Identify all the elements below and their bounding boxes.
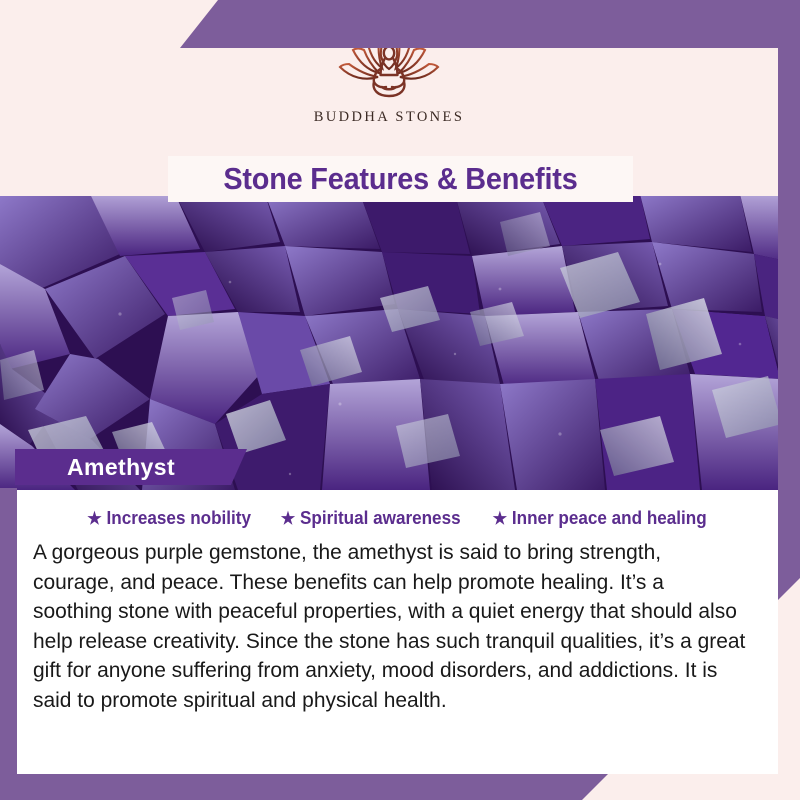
page-title: Stone Features & Benefits: [223, 161, 577, 197]
left-purple-band: [0, 488, 17, 778]
bottom-purple-band: [0, 774, 640, 800]
amethyst-photo: [0, 194, 800, 490]
star-icon: ★: [492, 510, 506, 527]
header-inner: BUDDHA STONES Stone Features & Benefits: [0, 22, 778, 196]
benefit-label: Inner peace and healing: [512, 508, 707, 529]
stone-name-bar: Amethyst: [15, 449, 247, 485]
benefits-list: ★ Increases nobility ★ Spiritual awarene…: [17, 490, 778, 529]
star-icon: ★: [87, 510, 101, 527]
brand-name: BUDDHA STONES: [314, 109, 465, 126]
right-purple-band: [778, 0, 800, 600]
benefit-item: ★ Spiritual awareness: [281, 508, 461, 529]
benefit-item: ★ Inner peace and healing: [492, 508, 706, 529]
star-icon: ★: [281, 510, 295, 527]
benefit-label: Increases nobility: [107, 508, 251, 529]
benefit-item: ★ Increases nobility: [87, 508, 251, 529]
stone-description: A gorgeous purple gemstone, the amethyst…: [33, 538, 746, 715]
stone-name: Amethyst: [67, 454, 175, 481]
benefit-label: Spiritual awareness: [300, 508, 461, 529]
title-plate: Stone Features & Benefits: [168, 156, 633, 202]
infographic-page: BUDDHA STONES Stone Features & Benefits: [0, 0, 800, 800]
content-panel: ★ Increases nobility ★ Spiritual awarene…: [17, 490, 778, 774]
